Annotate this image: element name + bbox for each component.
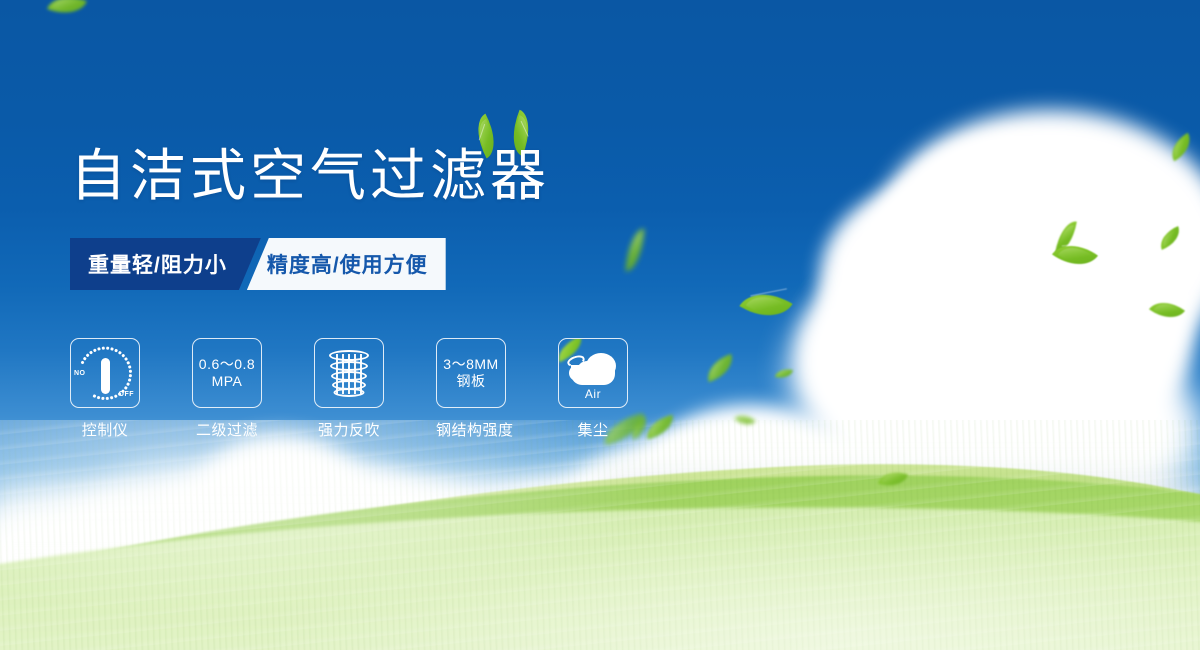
feature-item-back-blow[interactable]: 强力反吹 bbox=[314, 338, 384, 440]
gauge-label-no: NO bbox=[74, 370, 86, 377]
gauge-needle bbox=[101, 358, 110, 394]
feature-label: 钢结构强度 bbox=[436, 419, 506, 440]
product-banner: 自洁式空气过滤器 重量轻/阻力小 精度高/使用方便 bbox=[0, 0, 1200, 650]
feature-item-dust-collection[interactable]: Air 集尘 bbox=[558, 338, 628, 440]
grass-field bbox=[0, 420, 1200, 650]
feature-value-text: 3～8MM 钢板 bbox=[443, 356, 498, 390]
feature-label: 集尘 bbox=[558, 419, 628, 440]
feature-icon-box bbox=[314, 338, 384, 408]
subtitle-right-tag: 精度高/使用方便 bbox=[247, 238, 446, 290]
air-label: Air bbox=[564, 387, 622, 401]
page-title: 自洁式空气过滤器 bbox=[70, 148, 550, 204]
feature-icon-box: NO OFF bbox=[70, 338, 140, 408]
feature-label: 强力反吹 bbox=[314, 419, 384, 440]
feature-value-text: 0.6～0.8 MPA bbox=[199, 356, 255, 390]
feature-list: NO OFF 控制仪 0.6～0.8 MPA 二级过滤 bbox=[70, 338, 628, 440]
cloud-air-icon: Air bbox=[564, 345, 622, 401]
feature-icon-box: 0.6～0.8 MPA bbox=[192, 338, 262, 408]
feature-item-steel-strength[interactable]: 3～8MM 钢板 钢结构强度 bbox=[436, 338, 506, 440]
feature-icon-box: Air bbox=[558, 338, 628, 408]
feature-item-controller[interactable]: NO OFF 控制仪 bbox=[70, 338, 140, 440]
gauge-icon: NO OFF bbox=[74, 344, 136, 402]
feature-label: 控制仪 bbox=[70, 419, 140, 440]
subtitle-left-tag: 重量轻/阻力小 bbox=[70, 238, 261, 290]
feature-icon-box: 3～8MM 钢板 bbox=[436, 338, 506, 408]
feature-label: 二级过滤 bbox=[192, 419, 262, 440]
filter-coil-icon bbox=[327, 348, 371, 398]
feature-item-two-stage-filter[interactable]: 0.6～0.8 MPA 二级过滤 bbox=[192, 338, 262, 440]
gauge-label-off: OFF bbox=[119, 391, 135, 398]
subtitle-bar: 重量轻/阻力小 精度高/使用方便 bbox=[70, 238, 446, 290]
